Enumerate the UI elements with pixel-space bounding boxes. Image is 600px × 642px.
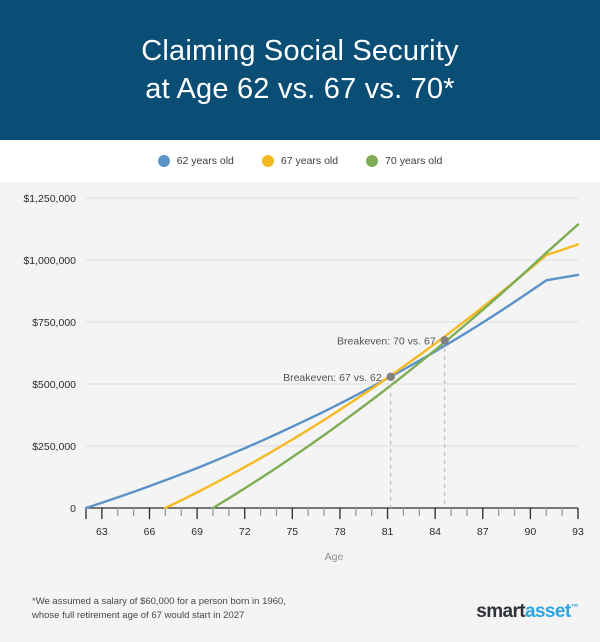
x-axis-tick-label: 66 [144, 526, 156, 538]
x-axis-title: Age [325, 551, 344, 563]
x-axis-tick-label: 63 [96, 526, 108, 538]
circle-swatch-icon [262, 155, 274, 167]
x-axis-tick-label: 81 [382, 526, 394, 538]
breakeven-annotation-label: Breakeven: 67 vs. 62 [283, 372, 382, 384]
footnote-line-2: whose full retirement age of 67 would st… [32, 609, 286, 623]
y-axis-tick-label: $1,000,000 [23, 255, 76, 267]
chart-legend: 62 years old 67 years old 70 years old [0, 140, 600, 182]
legend-label-67: 67 years old [281, 155, 338, 167]
x-axis-tick-label: 84 [429, 526, 441, 538]
legend-item-62[interactable]: 62 years old [158, 155, 234, 167]
x-axis-tick-label: 87 [477, 526, 489, 538]
page-title-line-1: Claiming Social Security [141, 32, 458, 70]
x-axis-tick-label: 69 [191, 526, 203, 538]
legend-label-70: 70 years old [385, 155, 442, 167]
logo-text-smart: smart [476, 601, 525, 622]
chart-footer: *We assumed a salary of $60,000 for a pe… [0, 587, 600, 642]
y-axis-tick-label: $750,000 [32, 317, 76, 329]
y-axis-tick-label: 0 [70, 503, 76, 515]
y-axis-tick-label: $250,000 [32, 441, 76, 453]
x-axis-tick-label: 78 [334, 526, 346, 538]
x-axis-tick-label: 90 [525, 526, 537, 538]
page-title-line-2: at Age 62 vs. 67 vs. 70* [145, 70, 455, 108]
logo-trademark-icon: ™ [571, 603, 578, 612]
breakeven-marker-dot[interactable] [440, 336, 448, 344]
breakeven-annotation-label: Breakeven: 70 vs. 67 [337, 335, 436, 347]
y-axis-tick-label: $500,000 [32, 379, 76, 391]
legend-item-67[interactable]: 67 years old [262, 155, 338, 167]
footnote-text: *We assumed a salary of $60,000 for a pe… [32, 595, 286, 623]
footnote-line-1: *We assumed a salary of $60,000 for a pe… [32, 595, 286, 609]
logo-text-asset: asset [525, 601, 571, 622]
x-axis-tick-label: 93 [572, 526, 584, 538]
legend-label-62: 62 years old [177, 155, 234, 167]
x-axis-tick-label: 72 [239, 526, 251, 538]
line-chart-svg: 0$250,000$500,000$750,000$1,000,000$1,25… [0, 182, 600, 587]
breakeven-marker-dot[interactable] [387, 373, 395, 381]
smartasset-logo[interactable]: smartasset™ [476, 601, 578, 623]
legend-item-70[interactable]: 70 years old [366, 155, 442, 167]
chart-header-banner: Claiming Social Security at Age 62 vs. 6… [0, 0, 600, 140]
y-axis-tick-label: $1,250,000 [23, 193, 76, 205]
circle-swatch-icon [366, 155, 378, 167]
x-axis-tick-label: 75 [286, 526, 298, 538]
circle-swatch-icon [158, 155, 170, 167]
chart-plot-area: 0$250,000$500,000$750,000$1,000,000$1,25… [0, 182, 600, 587]
